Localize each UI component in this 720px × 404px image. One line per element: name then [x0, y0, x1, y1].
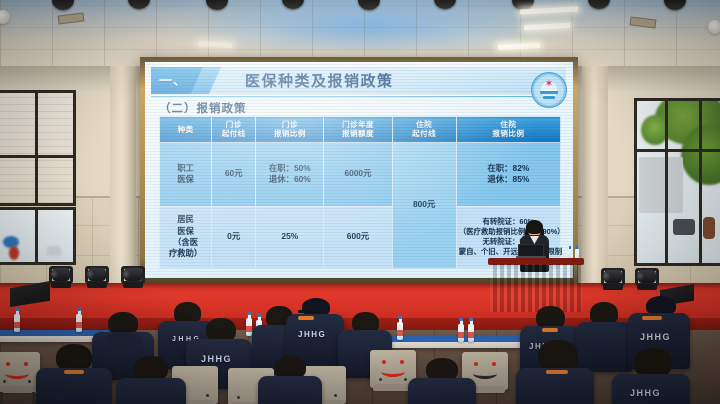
cell-inpatient-deductible-merged: 800元 — [392, 142, 456, 268]
bottle-label — [468, 332, 474, 338]
orange-collar — [546, 370, 568, 374]
cell-outpatient-rate: 25% — [256, 206, 324, 268]
star-icon: ✶ — [544, 77, 553, 90]
light-base — [637, 284, 657, 290]
slide-subtitle: （二）报销政策 — [159, 100, 247, 116]
light-lens — [87, 270, 94, 279]
smiley-eye — [400, 360, 404, 364]
wall-pillar — [110, 66, 136, 286]
audience-member-with-cap: JHHG — [286, 298, 344, 364]
chair-back-hole — [206, 394, 209, 397]
medical-insurance-bureau-emblem: ✶ — [531, 72, 567, 108]
bottle-label — [14, 322, 20, 328]
water-bottle — [14, 314, 20, 332]
window-mullion — [35, 210, 38, 262]
audience-member-foreground — [116, 356, 186, 404]
cell-outpatient-rate: 在职：50% 退休：60% — [256, 142, 324, 206]
right-window-with-trees — [634, 98, 720, 266]
wall-pillar — [582, 66, 608, 286]
chair-leg — [0, 392, 3, 404]
col-header-outpatient-annual-cap: 门诊年度 报销额度 — [324, 117, 392, 143]
light-base — [87, 282, 107, 288]
presenter-hair — [526, 220, 543, 234]
slide-section-number: 一、 — [159, 70, 187, 89]
col-header-outpatient-deductible: 门诊 起付线 — [212, 117, 256, 143]
slide-title: 医保种类及报销政策 — [245, 70, 394, 91]
orange-collar — [64, 370, 84, 374]
water-bottle — [458, 324, 464, 342]
moving-head-stage-light — [634, 264, 660, 290]
left-window-with-blinds — [0, 90, 76, 206]
light-lens — [123, 270, 130, 279]
water-bottle — [76, 314, 82, 332]
audience-member-foreground: JHHG — [612, 348, 690, 404]
col-header-inpatient-deductible: 住院 起付线 — [392, 117, 456, 143]
chair-back-hole — [3, 380, 6, 383]
cap-brim — [298, 310, 314, 313]
outdoor-object — [9, 246, 19, 260]
window-mullion — [665, 101, 668, 263]
orange-collar — [542, 328, 558, 332]
smiley-face-chair-back — [0, 352, 40, 404]
cell-outpatient-annual-cap: 6000元 — [324, 142, 392, 206]
led-screen-frame: 一、 医保种类及报销政策 ✶ （二）报销政策 — [140, 57, 578, 285]
jacket-logo-text: JHHG — [201, 354, 232, 364]
jacket-logo-text: JHHG — [298, 330, 326, 339]
red-skirted-presenter-table — [488, 258, 584, 312]
light-base — [603, 284, 623, 290]
outdoor-building — [639, 157, 683, 213]
presentation-slide: 一、 医保种类及报销政策 ✶ （二）报销政策 — [145, 62, 573, 278]
smiley-eye — [492, 362, 496, 366]
orange-collar — [298, 316, 314, 320]
chair-back-hole — [28, 380, 31, 383]
smiley-mouth — [381, 366, 405, 377]
slide-title-bar: 一、 医保种类及报销政策 — [151, 67, 566, 94]
cell-outpatient-annual-cap: 600元 — [324, 206, 392, 268]
audience-jacket — [408, 378, 476, 404]
cell-outpatient-deductible: 60元 — [212, 142, 256, 206]
reimbursement-policy-table: 种类 门诊 起付线 门诊 报销比例 门诊年度 — [159, 116, 561, 269]
chair-back-hole — [237, 396, 240, 399]
led-screen[interactable]: 一、 医保种类及报销政策 ✶ （二）报销政策 — [145, 62, 573, 278]
window-mullion — [699, 101, 702, 263]
bottle-label — [76, 322, 82, 328]
bottle-label — [397, 330, 403, 336]
window-mullion — [35, 93, 38, 203]
smiley-face-icon — [378, 360, 408, 378]
audience-member-foreground — [408, 358, 476, 404]
audience-jacket — [116, 378, 186, 404]
emblem-bar — [543, 96, 555, 99]
outdoor-object — [47, 246, 61, 256]
col-header-inpatient-rate: 住院 报销比例 — [456, 117, 560, 143]
outdoor-vehicle — [673, 219, 695, 235]
smiley-eye — [24, 362, 28, 366]
window-mullion — [637, 149, 720, 152]
smiley-face-icon — [2, 362, 32, 380]
orange-collar — [642, 316, 662, 320]
chair-seat — [373, 384, 413, 391]
water-bottle — [397, 322, 403, 340]
smiley-eye — [6, 362, 10, 366]
light-base — [51, 282, 71, 288]
moving-head-stage-light — [48, 262, 74, 288]
chair-back-hole — [334, 394, 337, 397]
smiley-mouth — [473, 368, 497, 379]
table-header-row: 种类 门诊 起付线 门诊 报销比例 门诊年度 — [160, 117, 561, 143]
chair-back-hole — [404, 378, 407, 381]
smiley-eye — [382, 360, 386, 364]
chair-back-hole — [379, 378, 382, 381]
jacket-logo-text: JHHG — [640, 332, 671, 342]
water-bottle — [468, 324, 474, 342]
moving-head-stage-light — [600, 264, 626, 290]
light-lens — [637, 272, 644, 281]
title-underline — [151, 96, 566, 97]
col-header-type: 种类 — [160, 117, 212, 143]
moving-head-stage-light — [84, 262, 110, 288]
light-base — [123, 282, 143, 288]
moving-head-stage-light — [120, 262, 146, 288]
table-skirt — [490, 264, 582, 312]
col-header-outpatient-rate: 门诊 报销比例 — [256, 117, 324, 143]
emblem-bar — [540, 91, 558, 94]
cell-outpatient-deductible: 0元 — [212, 206, 256, 268]
smoke-detector — [708, 20, 720, 34]
cell-inpatient-rate: 在职：82% 退休：85% — [456, 142, 560, 206]
bottle-label — [458, 332, 464, 338]
light-lens — [603, 272, 610, 281]
left-window-lower-pane — [0, 207, 76, 265]
conference-hall-photo: 一、 医保种类及报销政策 ✶ （二）报销政策 — [0, 0, 720, 404]
audience-jacket — [258, 376, 322, 404]
audience-member-foreground — [516, 340, 594, 404]
cell-type: 居民 医保 （含医 疗救助） — [160, 206, 212, 268]
audience-member-foreground — [36, 344, 112, 404]
window-mullion — [0, 155, 73, 158]
light-lens — [51, 270, 58, 279]
cell-type: 职工 医保 — [160, 142, 212, 206]
chair-leg — [32, 392, 35, 404]
audience-member-foreground — [258, 356, 322, 404]
outdoor-person — [703, 217, 715, 239]
table-row: 职工 医保 60元 在职：50% 退休：60% 6000元 800元 — [160, 142, 561, 206]
jacket-logo-text: JHHG — [630, 388, 661, 398]
smiley-mouth — [5, 368, 29, 379]
